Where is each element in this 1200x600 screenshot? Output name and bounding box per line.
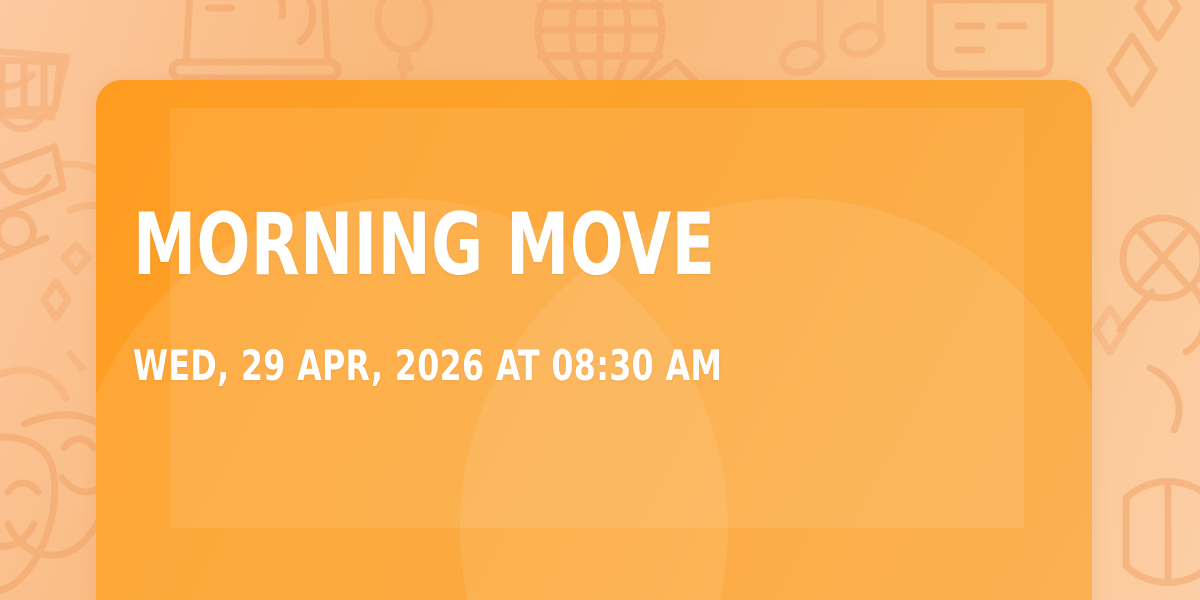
microphone-icon xyxy=(1120,218,1200,430)
event-title: Morning Move xyxy=(133,202,715,288)
ticket-stack-icon xyxy=(0,146,65,262)
sparkle-icon xyxy=(1110,36,1154,104)
event-datetime: Wed, 29 Apr, 2026 at 08:30 AM xyxy=(133,345,722,387)
sparkle-icon xyxy=(44,282,68,318)
sparkle-icon xyxy=(1138,0,1178,38)
globe-icon xyxy=(538,0,700,92)
calendar-icon xyxy=(930,0,1050,74)
event-card: Morning Move Wed, 29 Apr, 2026 at 08:30 … xyxy=(96,80,1092,600)
ticket-icon xyxy=(1126,482,1200,583)
confetti-icon xyxy=(2,354,82,398)
sparkle-icon xyxy=(64,245,88,272)
laptop-icon xyxy=(172,0,338,78)
music-note-icon xyxy=(779,0,885,76)
event-banner: Morning Move Wed, 29 Apr, 2026 at 08:30 … xyxy=(0,0,1200,600)
